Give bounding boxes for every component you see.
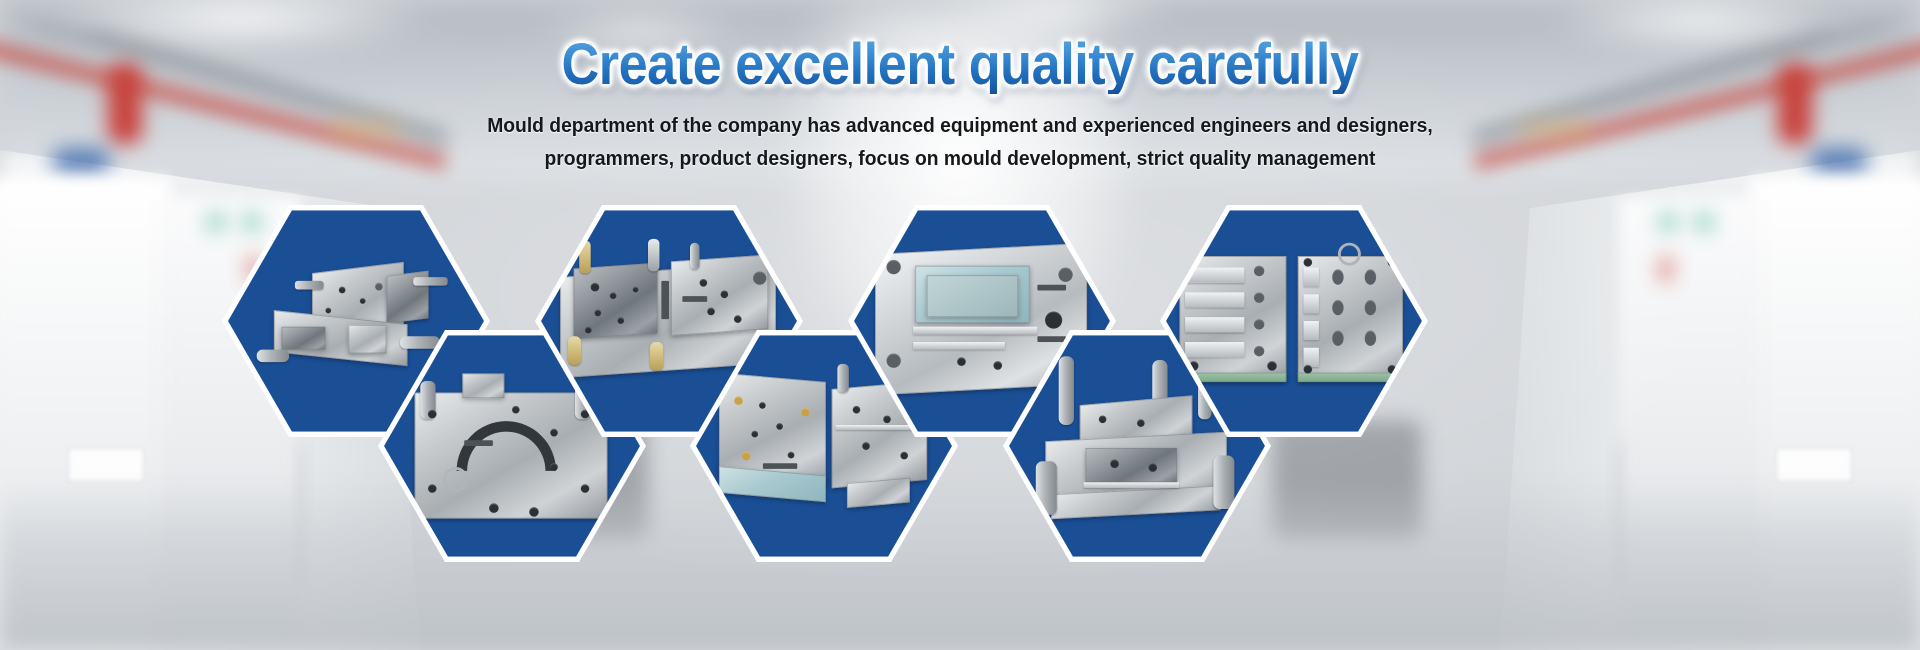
banner-subtitle-line-1: Mould department of the company has adva…: [58, 110, 1863, 142]
banner-headline: Create excellent quality carefully: [96, 36, 1824, 94]
banner-text-block: Create excellent quality carefully Mould…: [0, 36, 1920, 175]
mould-photo-multi-cavity-pair: [1177, 243, 1410, 402]
banner-root: Create excellent quality carefully Mould…: [0, 0, 1920, 650]
banner-subtitle-line-2: programmers, product designers, focus on…: [58, 143, 1863, 175]
